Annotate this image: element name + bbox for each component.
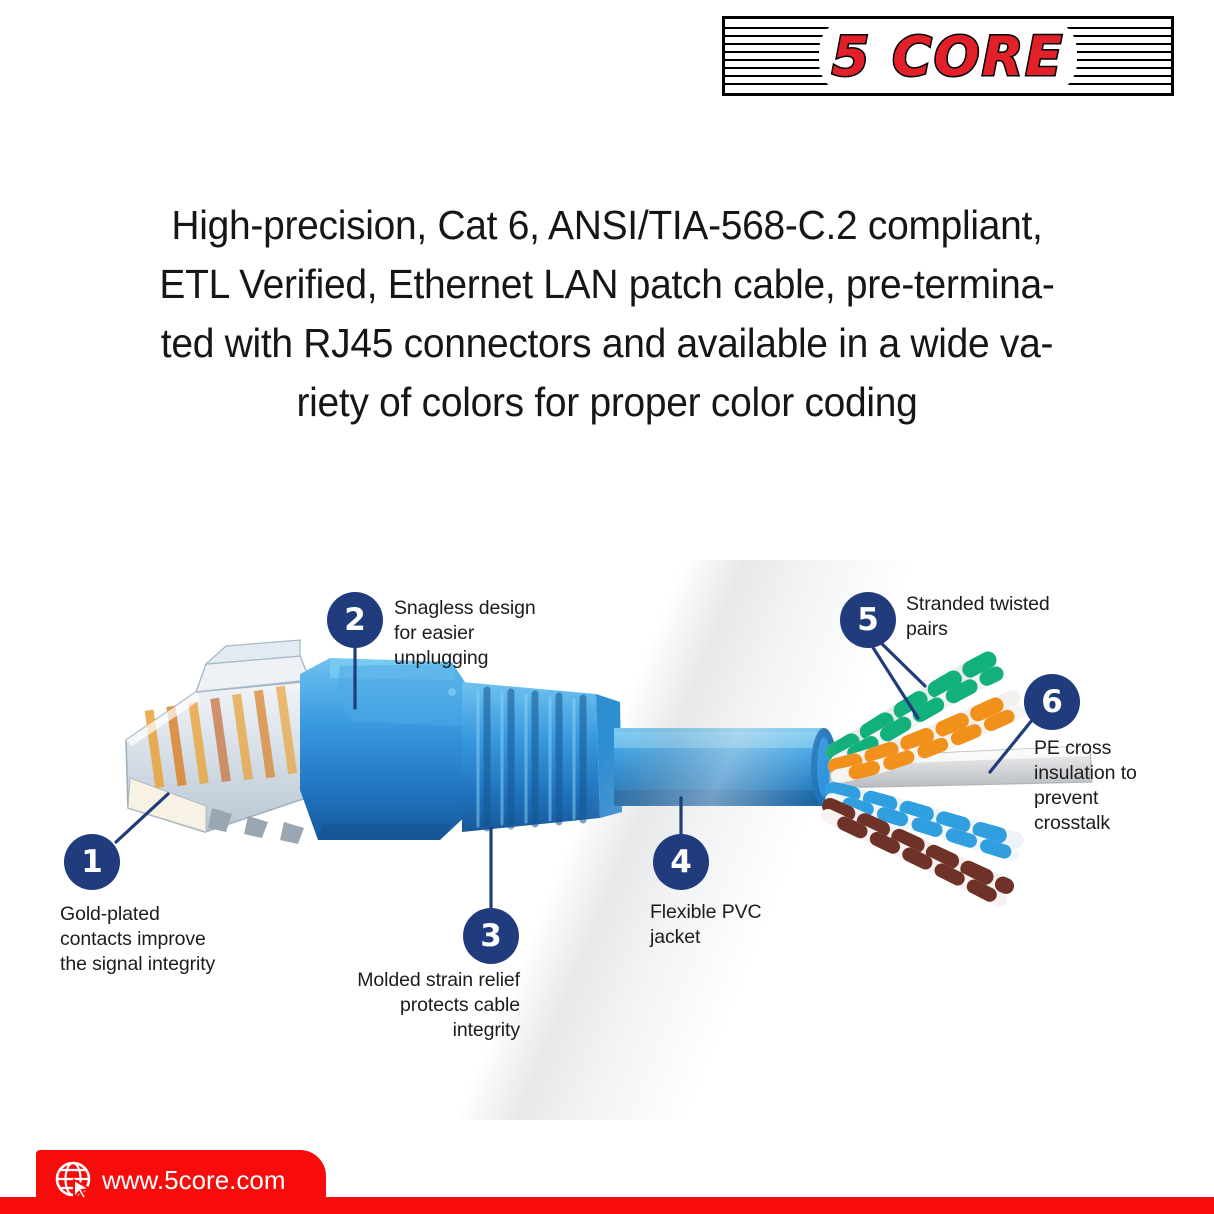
callout-3-line-1: Molded strain relief (320, 968, 520, 993)
callout-6-line-4: crosstalk (1034, 811, 1204, 836)
rj45-plug (126, 640, 330, 844)
callout-6-line-1: PE cross (1034, 736, 1204, 761)
callout-badge-6[interactable]: 6 (1024, 674, 1080, 730)
callout-5-line-2: pairs (906, 617, 1116, 642)
callout-4-line-1: Flexible PVC (650, 900, 850, 925)
product-headline: High-precision, Cat 6, ANSI/TIA-568-C.2 … (78, 196, 1136, 432)
callout-label-4: Flexible PVC jacket (650, 900, 850, 950)
callout-2-line-2: for easier (394, 621, 594, 646)
callout-3-line-2: protects cable (320, 993, 520, 1018)
globe-cursor-icon (54, 1160, 94, 1204)
callout-4-line-2: jacket (650, 925, 850, 950)
callout-badge-3[interactable]: 3 (463, 908, 519, 964)
callout-1-line-2: contacts improve (60, 927, 290, 952)
callout-1-line-1: Gold-plated (60, 902, 290, 927)
callout-1-line-3: the signal integrity (60, 952, 290, 977)
callout-6-line-2: insulation to (1034, 761, 1204, 786)
infographic-canvas: 5 CORE High-precision, Cat 6, ANSI/TIA-5… (0, 0, 1214, 1214)
snagless-boot (300, 658, 470, 840)
headline-line-2: ETL Verified, Ethernet LAN patch cable, … (78, 255, 1136, 314)
callout-6-line-3: prevent (1034, 786, 1204, 811)
brand-logo: 5 CORE (722, 16, 1174, 96)
callout-2-line-3: unplugging (394, 646, 594, 671)
callout-5-line-1: Stranded twisted (906, 592, 1116, 617)
callout-label-1: Gold-plated contacts improve the signal … (60, 902, 290, 977)
callout-label-2: Snagless design for easier unplugging (394, 596, 594, 671)
callout-badge-2[interactable]: 2 (327, 592, 383, 648)
logo-wordmark: 5 CORE (725, 19, 1171, 93)
pvc-jacket (614, 728, 837, 806)
callout-badge-5[interactable]: 5 (840, 592, 896, 648)
callout-2-line-1: Snagless design (394, 596, 594, 621)
headline-line-4: riety of colors for proper color coding (78, 373, 1136, 432)
callout-badge-4[interactable]: 4 (653, 834, 709, 890)
headline-line-3: ted with RJ45 connectors and available i… (78, 314, 1136, 373)
callout-3-line-3: integrity (320, 1018, 520, 1043)
callout-label-6: PE cross insulation to prevent crosstalk (1034, 736, 1204, 836)
logo-wordmark-text: 5 CORE (826, 25, 1070, 88)
website-tab[interactable]: www.5core.com (36, 1150, 326, 1214)
callout-label-3: Molded strain relief protects cable inte… (320, 968, 520, 1043)
callout-label-5: Stranded twisted pairs (906, 592, 1116, 642)
callout-badge-1[interactable]: 1 (64, 834, 120, 890)
molded-strain-relief (462, 682, 622, 832)
headline-line-1: High-precision, Cat 6, ANSI/TIA-568-C.2 … (78, 196, 1136, 255)
website-url: www.5core.com (102, 1165, 286, 1200)
